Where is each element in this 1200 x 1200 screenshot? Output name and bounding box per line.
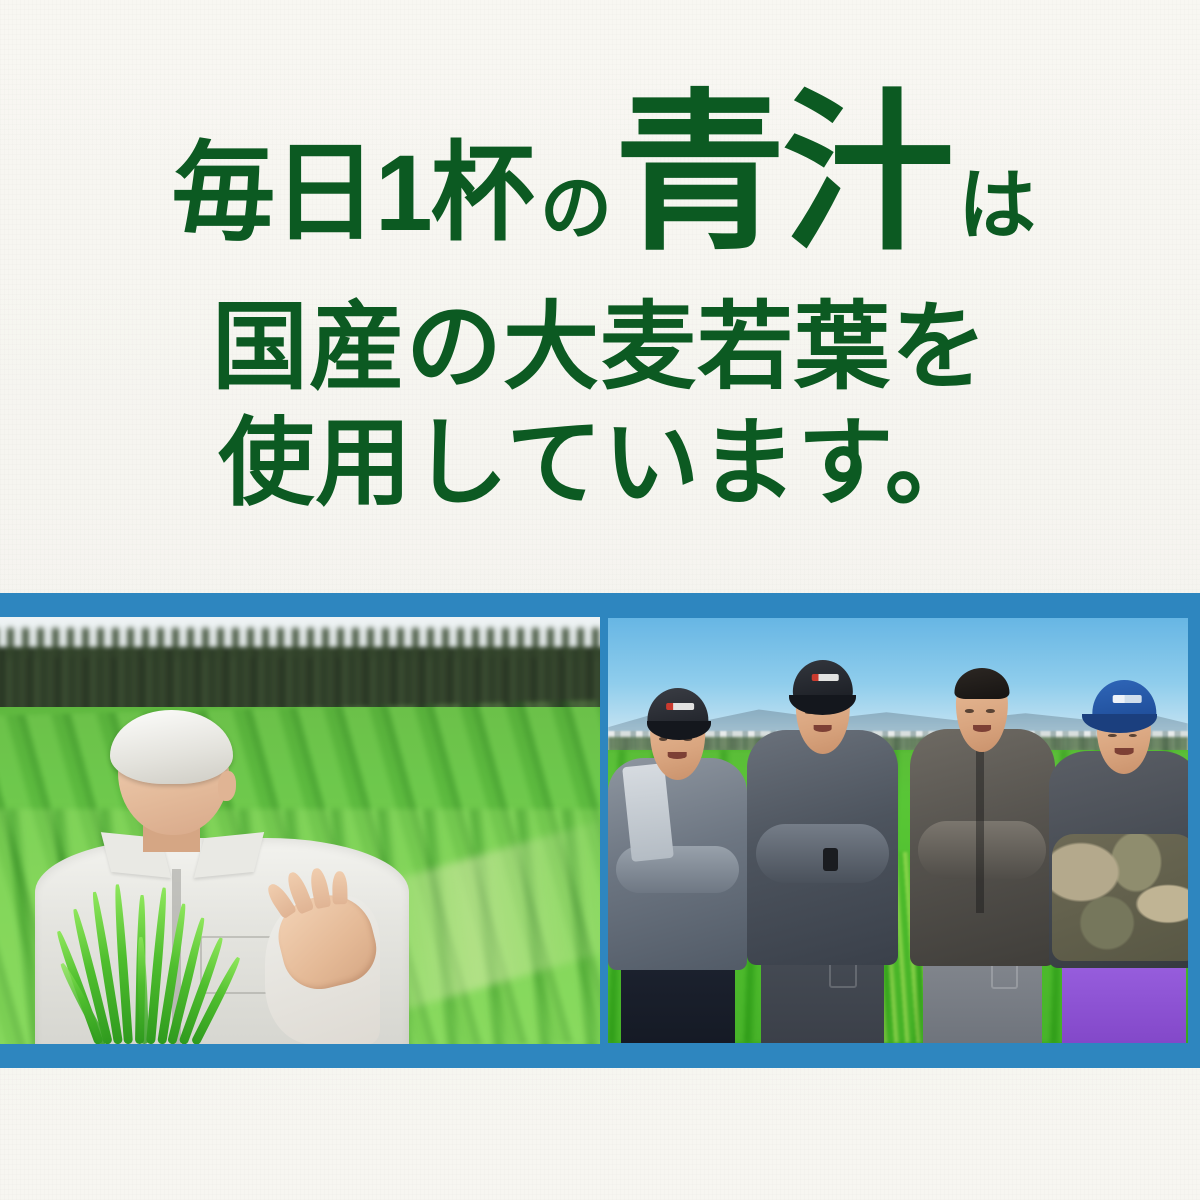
headline-segment-no-particle: の — [540, 173, 610, 252]
farmer-3-smile — [973, 725, 991, 732]
headline-block: 毎日1杯 の 青汁 は 国産の大麦若葉を 使用しています。 — [0, 0, 1200, 593]
barley-grass-bundle — [92, 882, 211, 1044]
farmer-4-smile — [1115, 748, 1133, 754]
left-photo-farmer — [42, 707, 402, 1044]
headline-line-1: 毎日1杯 の 青汁 は — [0, 82, 1200, 252]
farmer-white-hair — [110, 710, 232, 784]
bottom-paper-area — [0, 1068, 1200, 1200]
photo-four-farmers — [608, 618, 1188, 1043]
headline-line-2: 国産の大麦若葉を — [0, 300, 1200, 396]
farmer-3-eye-left — [965, 709, 973, 713]
headline-line-3: 使用しています。 — [0, 416, 1200, 512]
farmer-2-wristwatch — [823, 848, 838, 871]
promo-poster: 毎日1杯 の 青汁 は 国産の大麦若葉を 使用しています。 — [0, 0, 1200, 1200]
farmer-ear — [218, 771, 236, 801]
farmer-1-smile — [668, 752, 687, 759]
farmer-1 — [608, 678, 747, 1044]
farmer-4-camo-sleeve — [1052, 834, 1188, 961]
farmer-2 — [747, 652, 898, 1043]
farmer-4-eye-right — [1129, 734, 1138, 738]
farmer-2-smile — [813, 725, 831, 732]
farmer-2-cap-logo — [811, 674, 839, 681]
farmer-1-cap-logo — [666, 703, 694, 710]
headline-segment-ha-particle: は — [958, 166, 1036, 252]
farmer-3-hair — [955, 668, 1010, 699]
farmer-4-eye-left — [1108, 734, 1117, 738]
photo-band — [0, 593, 1200, 1068]
farmer-3 — [910, 661, 1055, 1044]
photo-farmer-with-barley — [0, 617, 600, 1044]
headline-segment-aojiru: 青汁 — [614, 97, 950, 252]
farmer-3-jacket-zipper — [976, 737, 983, 913]
farmer-3-eye-right — [986, 709, 994, 713]
headline-segment-daily-cup: 毎日1杯 — [171, 139, 532, 252]
farmer-4-cap-logo — [1113, 695, 1142, 702]
farmer-4 — [1049, 669, 1188, 1043]
farmer-finger-4 — [331, 871, 347, 904]
